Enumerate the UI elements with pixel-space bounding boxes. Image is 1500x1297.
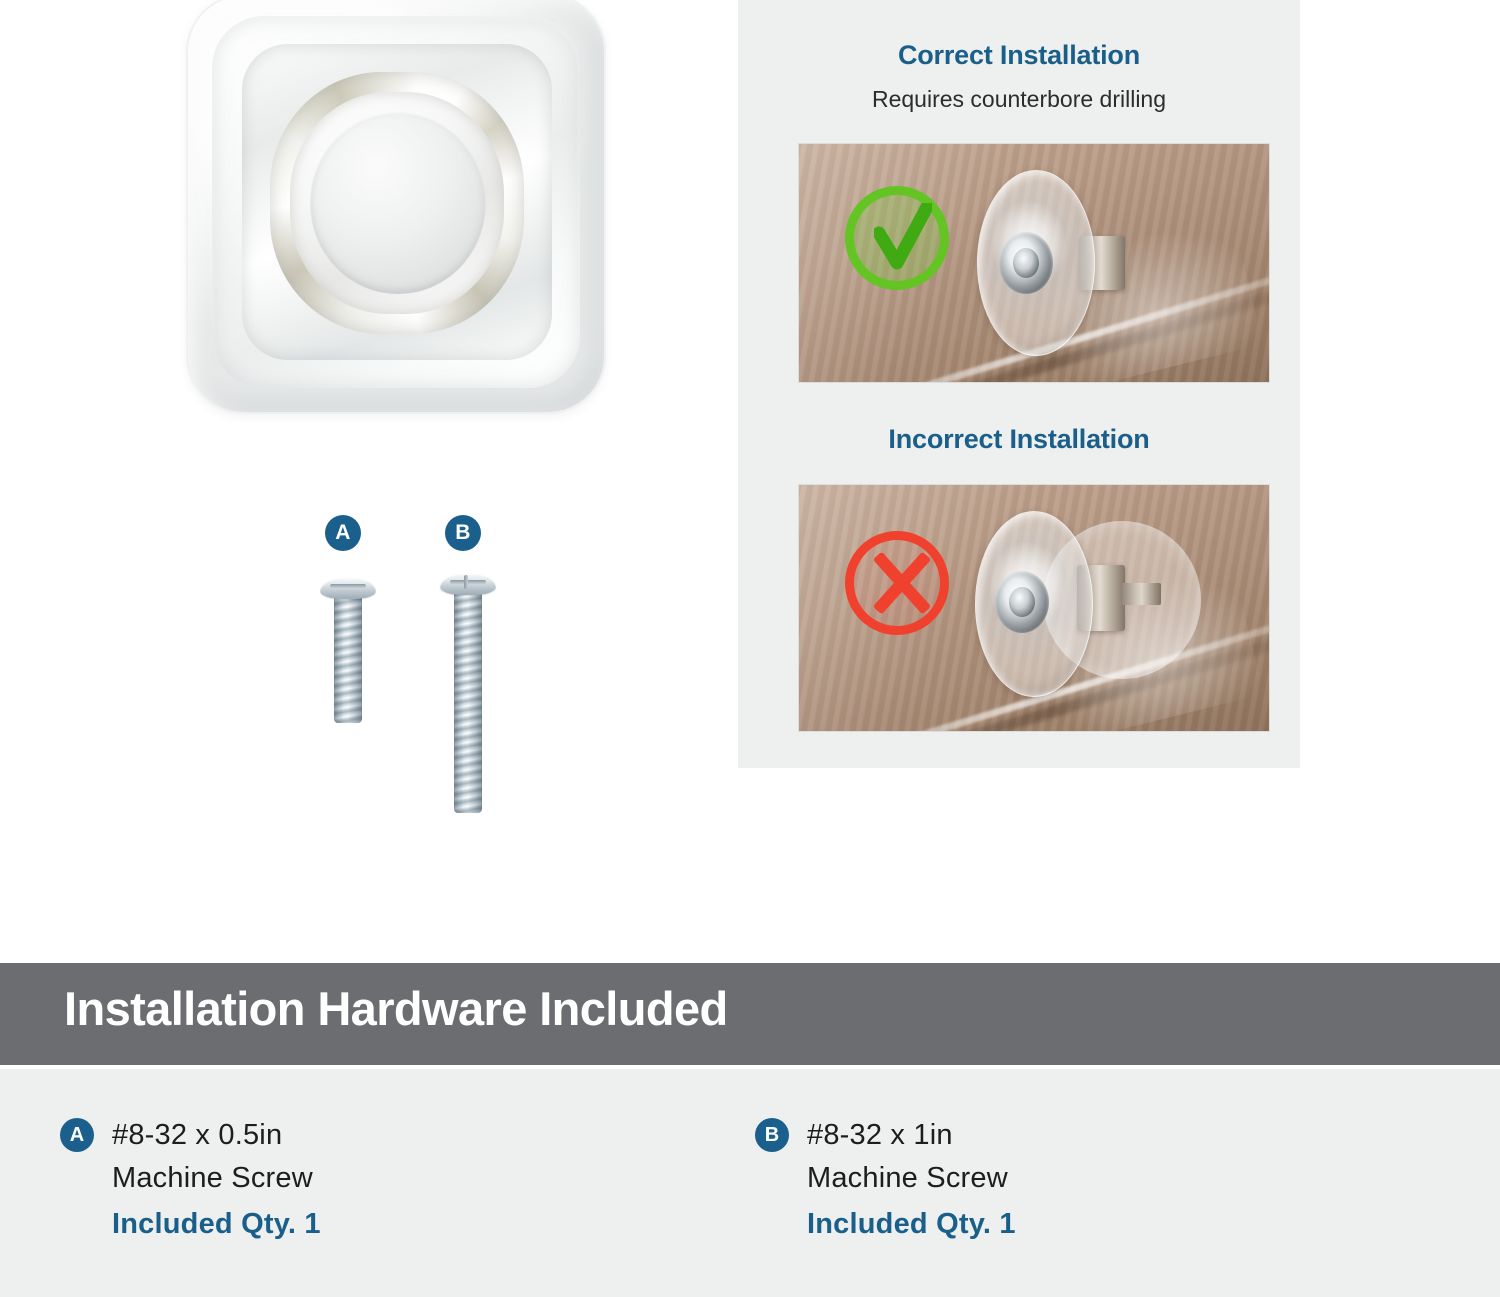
hardware-type-a: Machine Screw bbox=[112, 1155, 321, 1201]
correct-installation-photo bbox=[798, 143, 1270, 383]
hardware-spec-a: #8-32 x 0.5in bbox=[112, 1115, 321, 1155]
red-x-icon bbox=[845, 531, 949, 635]
hardware-spec-b: #8-32 x 1in bbox=[807, 1115, 1016, 1155]
installation-panel: Correct Installation Requires counterbor… bbox=[738, 0, 1300, 768]
screw-slot-horizontal-a bbox=[330, 584, 366, 588]
screw-badge-a: A bbox=[325, 515, 361, 551]
knob-core-correct bbox=[1013, 248, 1039, 278]
screw-badge-b: B bbox=[445, 515, 481, 551]
product-infographic: A B Correct Installation Requires counte… bbox=[0, 0, 1500, 1297]
product-knob-image bbox=[186, 0, 626, 434]
screw-callout-group: A B bbox=[300, 505, 540, 795]
hardware-list: A #8-32 x 0.5in Machine Screw Included Q… bbox=[0, 1069, 1500, 1297]
hardware-qty-b: Included Qty. 1 bbox=[807, 1201, 1016, 1247]
green-check-icon bbox=[845, 186, 949, 290]
hardware-type-b: Machine Screw bbox=[807, 1155, 1016, 1201]
screw-shaft-b bbox=[454, 591, 482, 813]
incorrect-installation-title: Incorrect Installation bbox=[738, 424, 1300, 455]
screw-slot-vertical-b bbox=[464, 575, 468, 589]
hardware-badge-b: B bbox=[755, 1118, 789, 1152]
screw-head-a bbox=[320, 577, 376, 599]
hardware-banner-title: Installation Hardware Included bbox=[64, 981, 728, 1036]
check-glyph bbox=[874, 203, 932, 273]
screw-slot-horizontal-b bbox=[450, 580, 486, 584]
correct-installation-title: Correct Installation bbox=[738, 40, 1300, 71]
hardware-qty-a: Included Qty. 1 bbox=[112, 1201, 321, 1247]
hardware-text-a: #8-32 x 0.5in Machine Screw Included Qty… bbox=[112, 1115, 321, 1247]
hardware-text-b: #8-32 x 1in Machine Screw Included Qty. … bbox=[807, 1115, 1016, 1247]
screw-shaft-a bbox=[334, 595, 362, 723]
incorrect-installation-photo bbox=[798, 484, 1270, 732]
hardware-badge-a: A bbox=[60, 1118, 94, 1152]
correct-installation-subtitle: Requires counterbore drilling bbox=[738, 86, 1300, 113]
knob-center-disc bbox=[310, 112, 486, 294]
knob-core-incorrect bbox=[1009, 587, 1035, 617]
hardware-banner: Installation Hardware Included bbox=[0, 963, 1500, 1065]
screw-head-b bbox=[440, 573, 496, 595]
knob-stem-incorrect bbox=[1121, 583, 1161, 605]
